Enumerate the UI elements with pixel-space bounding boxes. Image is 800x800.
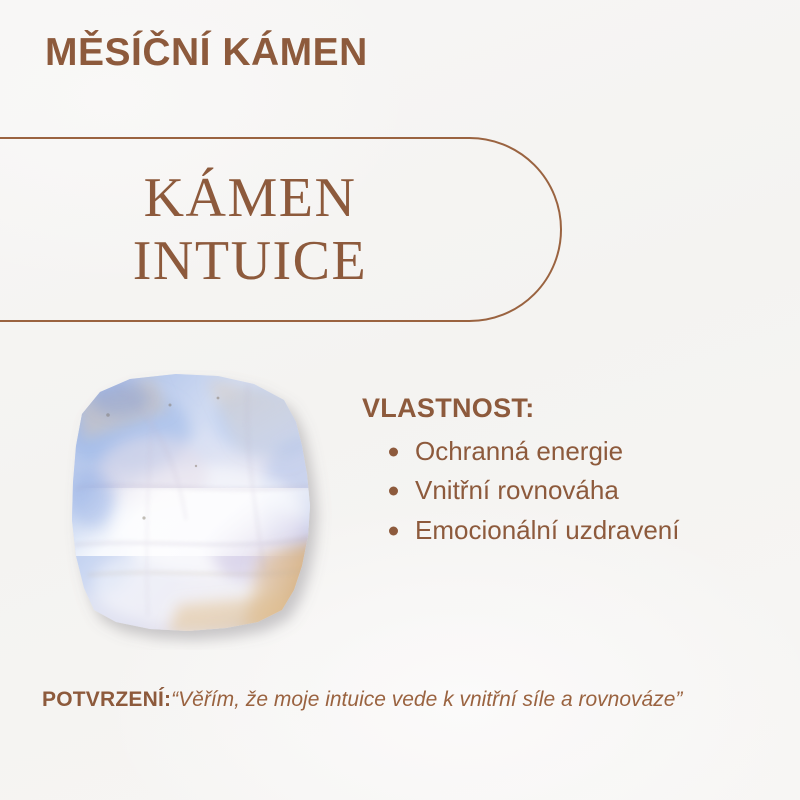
moonstone-icon <box>58 370 338 650</box>
property-item-label: Ochranná energie <box>415 436 623 466</box>
affirmation-block: POTVRZENÍ:“Věřím, že moje intuice vede k… <box>42 684 742 716</box>
moonstone-image <box>58 370 338 650</box>
affirmation-quote: “Věřím, že moje intuice vede k vnitřní s… <box>171 688 682 711</box>
headline-block: KÁMEN INTUICE <box>0 137 562 322</box>
headline-line-2: INTUICE <box>133 230 367 293</box>
bullet-icon <box>389 487 398 496</box>
headline-line-1: KÁMEN <box>144 167 357 230</box>
bullet-icon <box>389 526 398 535</box>
property-item: Ochranná energie <box>362 432 782 472</box>
bullet-icon <box>389 447 398 456</box>
affirmation-label: POTVRZENÍ: <box>42 688 171 711</box>
property-item: Emocionální uzdravení <box>362 511 782 551</box>
properties-block: VLASTNOST: Ochranná energie Vnitřní rovn… <box>362 392 782 550</box>
poster-canvas: MĚSÍČNÍ KÁMEN KÁMEN INTUICE <box>0 0 800 800</box>
property-item-label: Vnitřní rovnováha <box>415 475 619 505</box>
properties-title: VLASTNOST: <box>362 392 782 426</box>
property-item: Vnitřní rovnováha <box>362 471 782 511</box>
property-item-label: Emocionální uzdravení <box>415 515 679 545</box>
poster-eyebrow-title: MĚSÍČNÍ KÁMEN <box>45 31 368 76</box>
properties-list: Ochranná energie Vnitřní rovnováha Emoci… <box>362 432 782 551</box>
